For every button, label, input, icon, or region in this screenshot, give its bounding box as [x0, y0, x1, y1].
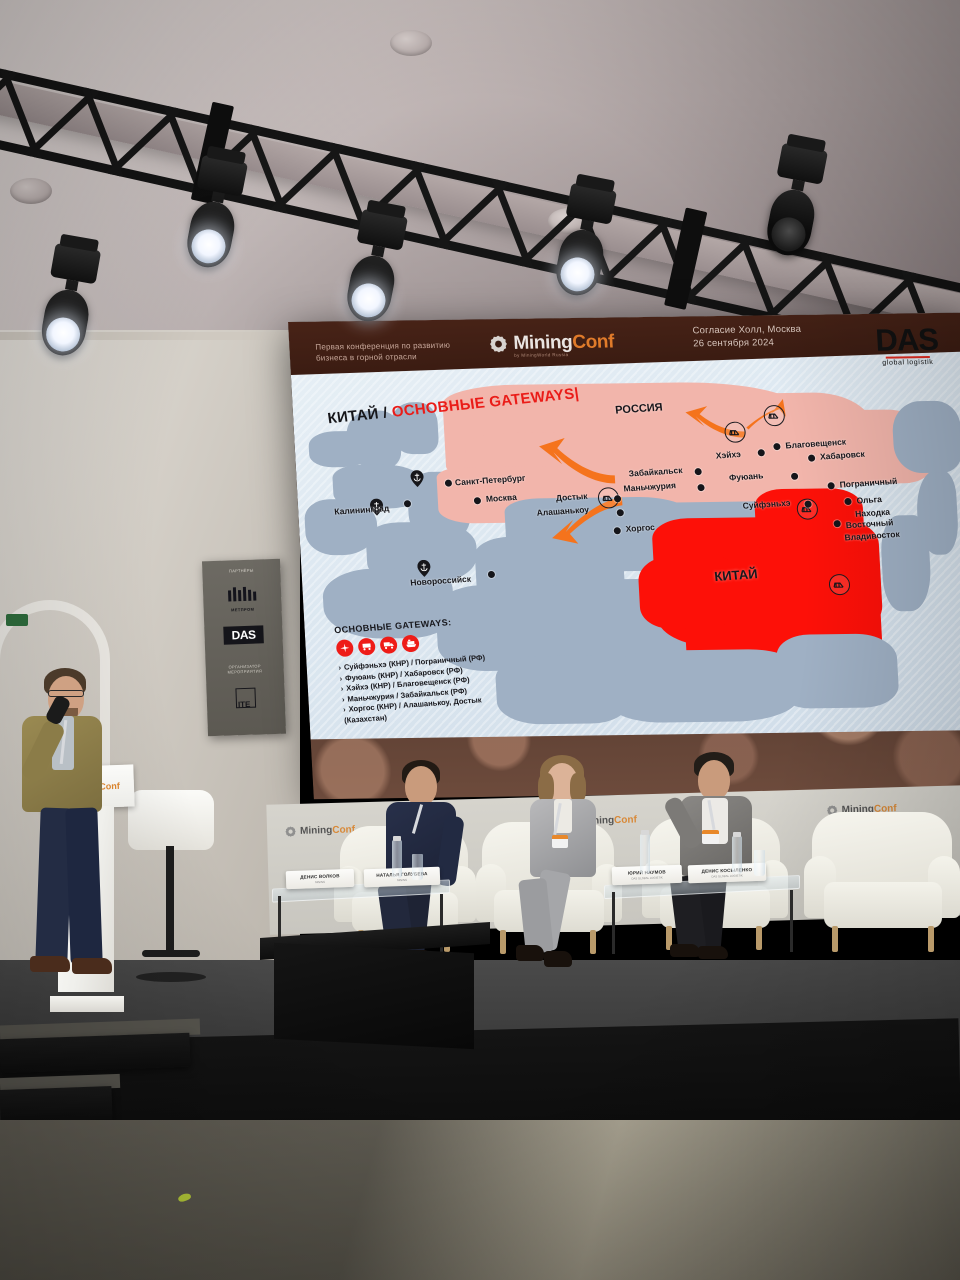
- slide-venue: Согласие Холл, Москва: [692, 323, 801, 337]
- metprom-logo-icon: [227, 586, 258, 603]
- led-screen: РОССИЯ КИТАЙ: [288, 313, 960, 800]
- city-dot: [617, 509, 624, 516]
- city-dot: [614, 495, 621, 502]
- truck-icon: [379, 636, 398, 654]
- nameplate-name: ДЕНИС ВОЛКОВ: [300, 873, 340, 879]
- sponsor-das-label: DAS: [223, 625, 263, 644]
- city-dot: [791, 473, 798, 480]
- nameplate-role: MINING: [397, 878, 407, 882]
- rail-gateway-badge: [724, 422, 746, 443]
- nameplate-role: DAS GLOBAL LOGISTIK: [711, 873, 742, 878]
- city-dot: [445, 480, 452, 487]
- rail-gateway-badge: [828, 574, 850, 595]
- legend-route-list: Суйфэньхэ (КНР) / Пограничный (РФ) Фуюан…: [338, 653, 491, 726]
- port-anchor-icon: [417, 560, 431, 577]
- bottle-cap: [733, 832, 741, 837]
- stage-step-1: [0, 1033, 191, 1074]
- sponsor-board: ПАРТНЁРЫ МЕТПРОМ DAS ОРГАНИЗАТОР МЕРОПРИ…: [202, 559, 286, 737]
- presentation-slide: РОССИЯ КИТАЙ: [288, 313, 960, 740]
- city-dot: [488, 571, 495, 578]
- city-dot: [614, 527, 621, 534]
- city-label-moscow: Москва: [485, 492, 517, 504]
- ship-icon: [401, 634, 420, 652]
- slide-venue-block: Согласие Холл, Москва 26 сентября 2024: [692, 323, 802, 350]
- city-dot: [808, 455, 815, 462]
- nameplate: ДЕНИС ВОЛКОВ MINING: [286, 869, 355, 889]
- city-dot: [844, 498, 851, 505]
- drinking-glass: [754, 850, 765, 876]
- legend-mode-icons: [335, 630, 483, 657]
- logo-text-conf: Conf: [572, 331, 615, 353]
- stool-post: [166, 846, 174, 956]
- city-dot: [834, 520, 841, 527]
- eyeglasses-icon: [48, 690, 84, 697]
- bar-stool: [128, 790, 214, 990]
- sponsor-organizer-label: ITE: [238, 700, 251, 709]
- city-label-heihe: Хэйхэ: [715, 449, 741, 461]
- nameplate-role: MINING: [315, 880, 325, 884]
- bottle-cap: [393, 836, 401, 841]
- bottle-cap: [641, 830, 649, 835]
- water-bottle: [732, 836, 742, 874]
- stool-footrest: [142, 950, 200, 957]
- das-wordmark: DAS: [875, 325, 939, 356]
- lectern-logo-conf: Conf: [99, 781, 120, 792]
- city-dot: [404, 500, 411, 507]
- das-tagline: global logistik: [876, 359, 939, 367]
- rail-gateway-badge: [763, 405, 785, 426]
- nameplate-role: DAS GLOBAL LOGISTIK: [631, 875, 662, 880]
- slide-date: 26 сентября 2024: [693, 336, 802, 350]
- das-logo: DAS global logistik: [875, 325, 940, 367]
- drinking-glass: [412, 854, 423, 880]
- plane-icon: [335, 639, 354, 657]
- city-dot: [474, 497, 481, 504]
- port-anchor-icon: [410, 470, 424, 487]
- logo-tagline: by MiningWorld Russia: [514, 352, 569, 358]
- city-dot: [697, 484, 704, 491]
- city-dot: [804, 501, 811, 508]
- city-label-khorgos: Хоргос: [625, 522, 655, 534]
- stage-step-2: [0, 1086, 113, 1124]
- nameplate: НАТАЛЬЯ ГОЛУБЕВА MINING: [364, 867, 441, 888]
- logo-text-mining: Mining: [513, 332, 573, 354]
- slide-tagline: Первая конференция по развитию бизнеса в…: [315, 339, 506, 364]
- train-icon: [357, 638, 376, 656]
- city-dot: [695, 468, 702, 475]
- conference-stage-scene: ПАРТНЁРЫ МЕТПРОМ DAS ОРГАНИЗАТОР МЕРОПРИ…: [0, 0, 960, 1280]
- city-dot: [773, 443, 780, 450]
- sponsor-metprom-label: МЕТПРОМ: [204, 606, 282, 614]
- city-label-olga: Ольга: [856, 494, 882, 506]
- route-arrow-west: [534, 433, 617, 490]
- exit-sign: [6, 614, 28, 626]
- lectern-base: [50, 996, 124, 1012]
- backdrop-miningconf-logo: MiningConf: [285, 824, 355, 837]
- gear-icon: [489, 335, 508, 353]
- city-label-dostyk: Достык: [555, 491, 588, 503]
- monitor-front-face: [274, 943, 474, 1049]
- water-bottle: [392, 840, 402, 878]
- stool-base: [136, 972, 206, 982]
- country-label-china: КИТАЙ: [714, 566, 759, 584]
- slide-legend: ОСНОВНЫЕ GATEWAYS: Суйф: [334, 615, 492, 726]
- stage-confidence-monitor: [260, 930, 490, 1050]
- water-bottle: [640, 834, 650, 874]
- nameplate-name: ДЕНИС КОСЫЛЕНКО: [701, 867, 752, 874]
- city-dot: [758, 449, 765, 456]
- stool-seat: [128, 790, 214, 850]
- city-dot: [827, 482, 834, 489]
- miningconf-logo: MiningConf by MiningWorld Russia: [489, 331, 615, 355]
- hall-floor-shadow: [0, 1120, 960, 1280]
- gear-icon: [285, 826, 296, 837]
- ceiling-light-recessed: [390, 30, 432, 56]
